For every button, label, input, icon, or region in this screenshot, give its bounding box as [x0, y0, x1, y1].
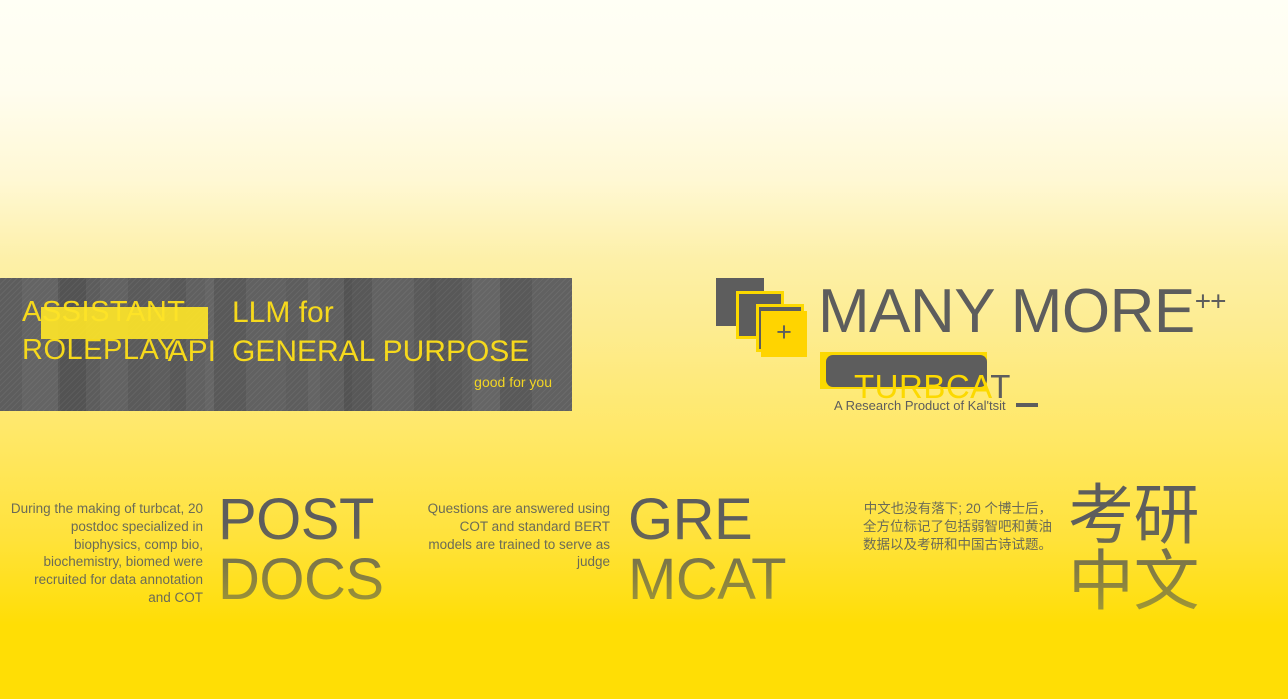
- column-description: 中文也没有落下; 20 个博士后，全方位标记了包括弱智吧和黄油数据以及考研和中国…: [860, 500, 1052, 554]
- hero-title-superscript: ++: [1195, 285, 1226, 316]
- column-heading-line2: MCAT: [628, 550, 786, 610]
- label-llm-for: LLM for: [232, 293, 552, 332]
- label-api: API: [120, 332, 216, 371]
- column-heading-line2: 中文: [1068, 548, 1199, 614]
- column-description: Questions are answered using COT and sta…: [420, 500, 610, 571]
- stacked-squares-icon: +: [716, 278, 806, 360]
- column-heading: 考研 中文: [1068, 482, 1199, 614]
- divider-dash: [1016, 403, 1038, 407]
- column-heading-line1: GRE: [628, 490, 786, 550]
- column-heading-line1: POST: [218, 490, 384, 550]
- banner-tagline: good for you: [232, 371, 552, 393]
- label-general-purpose: GENERAL PURPOSE: [232, 332, 552, 371]
- product-subtitle: A Research Product of Kal'tsit: [834, 398, 1006, 414]
- column-heading: GRE MCAT: [628, 490, 786, 610]
- column-heading: POST DOCS: [218, 490, 384, 610]
- plus-icon: +: [776, 319, 792, 346]
- hero-title: MANY MORE++: [818, 278, 1225, 346]
- banner-left-column: x: [120, 293, 216, 332]
- hero-title-text: MANY MORE: [818, 277, 1195, 346]
- product-badge: TURBCAT A Research Product of Kal'tsit: [820, 352, 1120, 422]
- column-description: During the making of turbcat, 20 postdoc…: [8, 500, 203, 607]
- column-heading-line2: DOCS: [218, 550, 384, 610]
- poster-canvas: ASSISTANT ROLEPLAY x API LLM for GENERAL…: [0, 0, 1288, 699]
- plus-square-icon: +: [761, 311, 807, 357]
- column-heading-line1: 考研: [1068, 482, 1199, 548]
- banner-headline-group: LLM for GENERAL PURPOSE good for you: [232, 293, 552, 393]
